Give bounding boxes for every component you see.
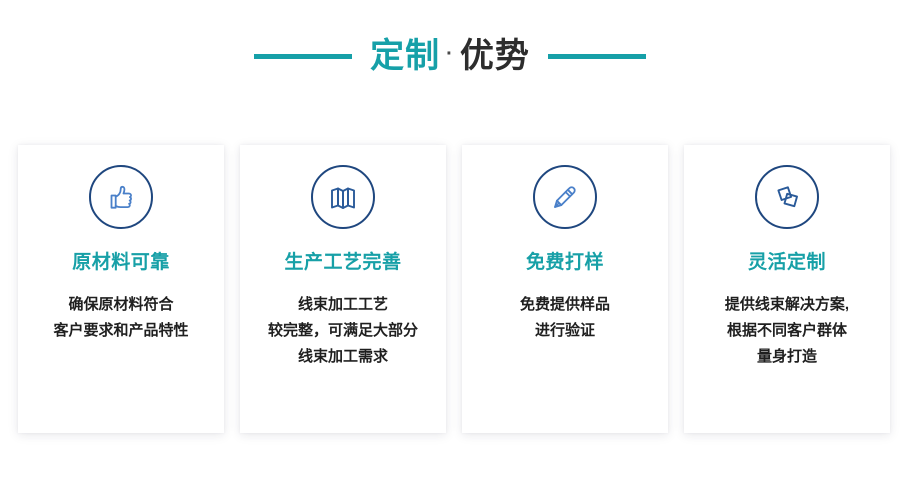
advantage-card-title: 免费打样 [526,253,604,272]
advantage-card[interactable]: 生产工艺完善 线束加工工艺 较完整，可满足大部分 线束加工需求 [240,145,446,433]
body-line: 线束加工工艺 [268,292,418,318]
advantage-card-title: 灵活定制 [748,253,826,272]
body-line: 线束加工需求 [268,344,418,370]
icon-ring [533,165,597,229]
advantage-card[interactable]: 免费打样 免费提供样品 进行验证 [462,145,668,433]
body-line: 量身打造 [725,344,849,370]
advantage-card[interactable]: 灵活定制 提供线束解决方案, 根据不同客户群体 量身打造 [684,145,890,433]
body-line: 根据不同客户群体 [725,318,849,344]
pencil-icon [547,179,583,215]
advantage-card[interactable]: 原材料可靠 确保原材料符合 客户要求和产品特性 [18,145,224,433]
header-rule-right [548,54,646,59]
page-title-main: 优势 [460,39,530,73]
body-line: 客户要求和产品特性 [53,318,188,344]
body-line: 进行验证 [520,318,610,344]
advantage-card-title: 生产工艺完善 [284,253,401,272]
header-rule-left [254,54,352,59]
advantages-section: 定制 · 优势 原材料可靠 确保原材料符合 客户要求和产品特性 [0,0,900,499]
body-line: 确保原材料符合 [53,292,188,318]
page-title-accent: 定制 [370,39,440,73]
body-line: 提供线束解决方案, [725,292,849,318]
stacked-cards-icon [769,179,805,215]
advantage-card-list: 原材料可靠 确保原材料符合 客户要求和产品特性 生产工艺完善 [18,145,882,433]
body-line: 较完整，可满足大部分 [268,318,418,344]
body-line: 免费提供样品 [520,292,610,318]
advantage-card-title: 原材料可靠 [72,253,170,272]
thumbs-up-icon [103,179,139,215]
advantage-card-body: 提供线束解决方案, 根据不同客户群体 量身打造 [717,292,857,370]
page-title: 定制 · 优势 [370,39,530,73]
folded-map-icon [325,179,361,215]
icon-ring [311,165,375,229]
page-title-separator: · [440,44,460,64]
section-header: 定制 · 优势 [0,28,900,84]
icon-ring [89,165,153,229]
icon-ring [755,165,819,229]
advantage-card-body: 线束加工工艺 较完整，可满足大部分 线束加工需求 [260,292,426,370]
advantage-card-body: 确保原材料符合 客户要求和产品特性 [45,292,196,344]
advantage-card-body: 免费提供样品 进行验证 [512,292,618,344]
